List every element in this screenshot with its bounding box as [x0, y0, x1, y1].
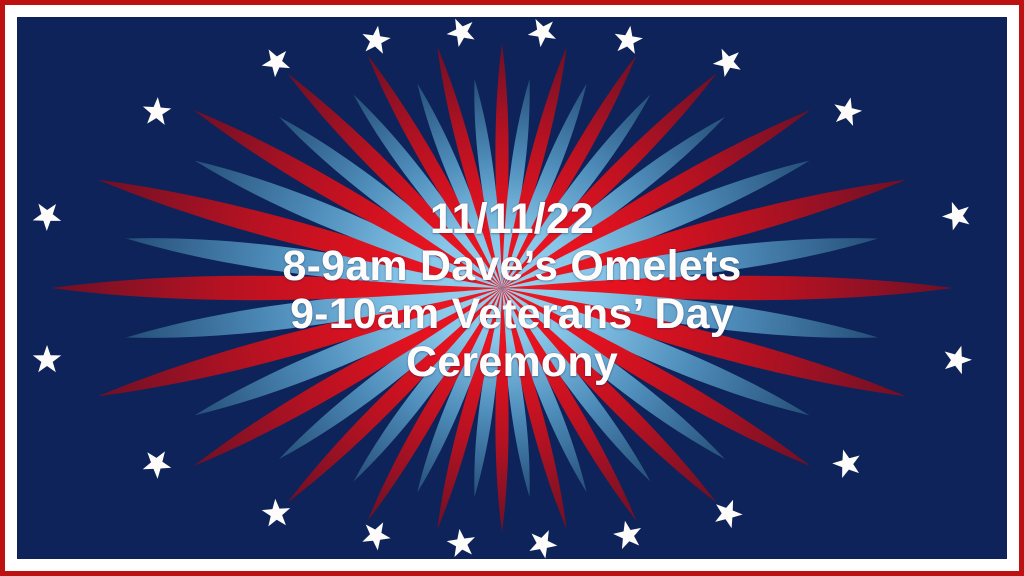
star-icon: [523, 17, 561, 50]
star-icon: [940, 342, 975, 376]
star-icon: [611, 518, 645, 550]
star-icon: [445, 527, 477, 558]
poster-canvas: 11/11/22 8-9am Dave’s Omelets 9-10am Vet…: [0, 0, 1024, 576]
star-icon: [612, 24, 644, 55]
star-icon: [442, 17, 479, 49]
star-icon: [138, 444, 177, 482]
star-icon: [28, 195, 67, 234]
star-icon: [360, 24, 392, 55]
star-icon: [831, 94, 865, 127]
star-icon: [258, 42, 297, 81]
star-icon: [33, 345, 62, 372]
star-icon: [261, 498, 291, 527]
starburst-fireworks-graphic: [17, 17, 1007, 559]
star-icon: [524, 524, 561, 559]
star-icon: [938, 197, 974, 232]
star-icon: [710, 495, 746, 531]
star-icon: [829, 446, 864, 480]
star-icon: [358, 515, 396, 553]
star-icon: [709, 43, 746, 79]
navy-panel: 11/11/22 8-9am Dave’s Omelets 9-10am Vet…: [17, 17, 1007, 559]
star-icon: [142, 96, 172, 125]
ray-group: [51, 44, 953, 533]
